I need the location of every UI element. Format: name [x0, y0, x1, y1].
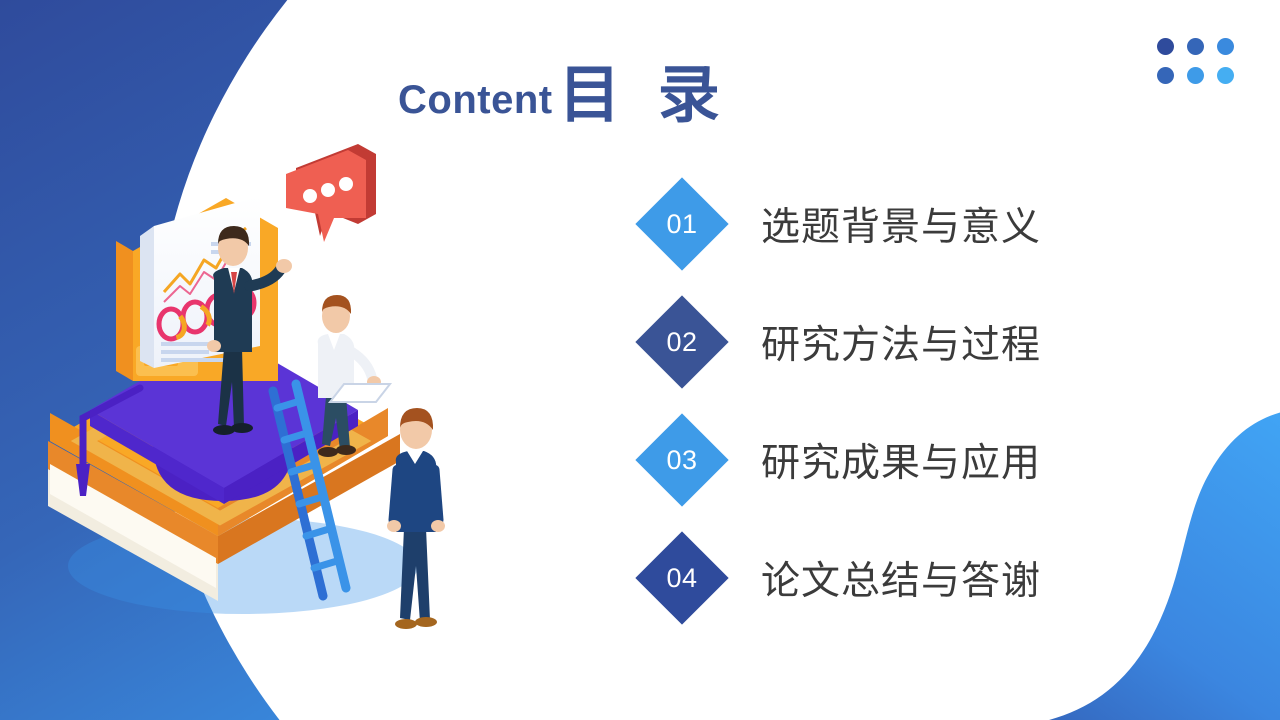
presentation-slide: Content 目 录 01 选题背景与意义 02 研究方法与过程 03 研究成… [0, 0, 1280, 720]
contents-item-02[interactable]: 02 研究方法与过程 [636, 296, 1041, 388]
diamond-badge-01: 01 [635, 177, 728, 270]
page-title-chinese: 目 录 [559, 65, 730, 127]
diamond-badge-04: 04 [635, 531, 728, 624]
dot-5 [1187, 67, 1204, 84]
diamond-badge-03: 03 [635, 413, 728, 506]
contents-label-02: 研究方法与过程 [761, 314, 1041, 370]
contents-item-04[interactable]: 04 论文总结与答谢 [636, 532, 1041, 624]
dot-grid-decoration [1157, 38, 1234, 84]
dot-1 [1157, 38, 1174, 55]
contents-item-01[interactable]: 01 选题背景与意义 [636, 178, 1041, 270]
contents-label-04: 论文总结与答谢 [761, 550, 1041, 606]
dot-3 [1217, 38, 1234, 55]
diamond-badge-02: 02 [635, 295, 728, 388]
dot-4 [1157, 67, 1174, 84]
contents-list: 01 选题背景与意义 02 研究方法与过程 03 研究成果与应用 04 论文总结… [636, 178, 1041, 624]
contents-item-03[interactable]: 03 研究成果与应用 [636, 414, 1041, 506]
contents-number-03: 03 [649, 427, 715, 493]
contents-number-04: 04 [649, 545, 715, 611]
contents-label-03: 研究成果与应用 [761, 432, 1041, 488]
page-title: Content 目 录 [398, 62, 730, 124]
contents-number-02: 02 [649, 309, 715, 375]
dot-2 [1187, 38, 1204, 55]
dot-6 [1217, 67, 1234, 84]
contents-number-01: 01 [649, 191, 715, 257]
page-title-english: Content [398, 80, 553, 120]
isometric-graduation-illustration [28, 96, 498, 636]
contents-label-01: 选题背景与意义 [761, 196, 1041, 252]
